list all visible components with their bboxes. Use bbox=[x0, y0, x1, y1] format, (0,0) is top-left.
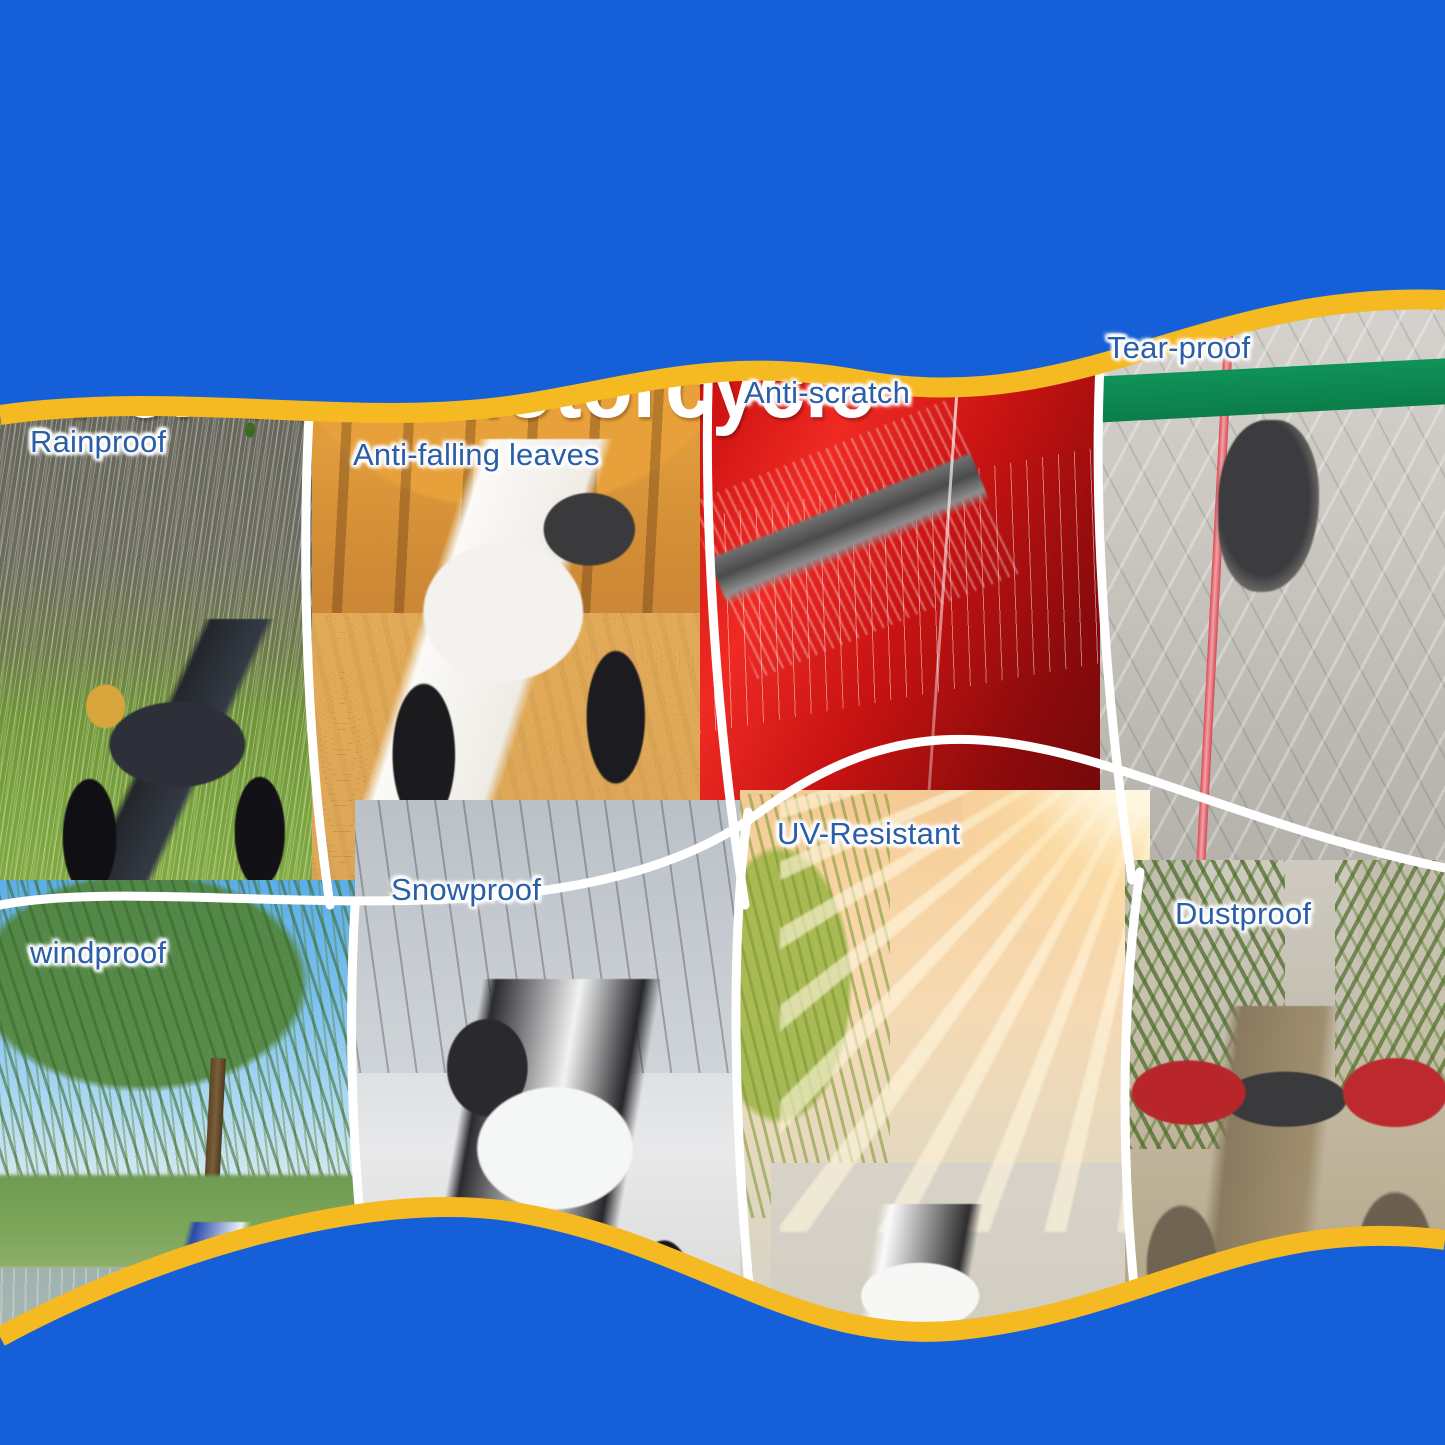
dusty-motorcycle bbox=[1125, 1006, 1445, 1338]
snow-covered-motorcycle bbox=[367, 979, 743, 1382]
feature-panel-dustproof bbox=[1125, 860, 1445, 1390]
label-rainproof: Rainproof bbox=[30, 424, 166, 460]
label-uv-resistant: UV-Resistant bbox=[777, 816, 960, 852]
feature-panel-uv-resistant bbox=[740, 790, 1150, 1400]
label-anti-falling-leaves: Anti-falling leaves bbox=[353, 437, 600, 473]
uv-resistant-photo bbox=[740, 790, 1150, 1400]
dustproof-photo bbox=[1125, 860, 1445, 1390]
poster-header: All Weather Protection For Your Motorcyc… bbox=[0, 0, 1445, 300]
label-dustproof: Dustproof bbox=[1175, 896, 1311, 932]
label-windproof: windproof bbox=[30, 935, 166, 971]
windproof-motorcycle bbox=[116, 1222, 308, 1400]
product-feature-poster: Rainproof Anti-falling leaves Anti-scrat… bbox=[0, 0, 1445, 1445]
windblown-trees bbox=[0, 880, 390, 1198]
label-snowproof: Snowproof bbox=[391, 872, 541, 908]
label-tear-proof: Tear-proof bbox=[1107, 330, 1250, 366]
tear-proof-photo bbox=[1100, 290, 1445, 880]
dusty-ground bbox=[1125, 1291, 1445, 1390]
uv-motorcycle bbox=[789, 1204, 1074, 1400]
headline-line-1: All Weather Protection bbox=[68, 140, 964, 238]
feature-panel-tear-proof bbox=[1100, 290, 1445, 880]
rainproof-motorcycle bbox=[39, 619, 305, 892]
torn-hole bbox=[1218, 420, 1318, 592]
label-anti-scratch: Anti-scratch bbox=[744, 375, 910, 411]
sun-glow bbox=[963, 790, 1150, 1013]
